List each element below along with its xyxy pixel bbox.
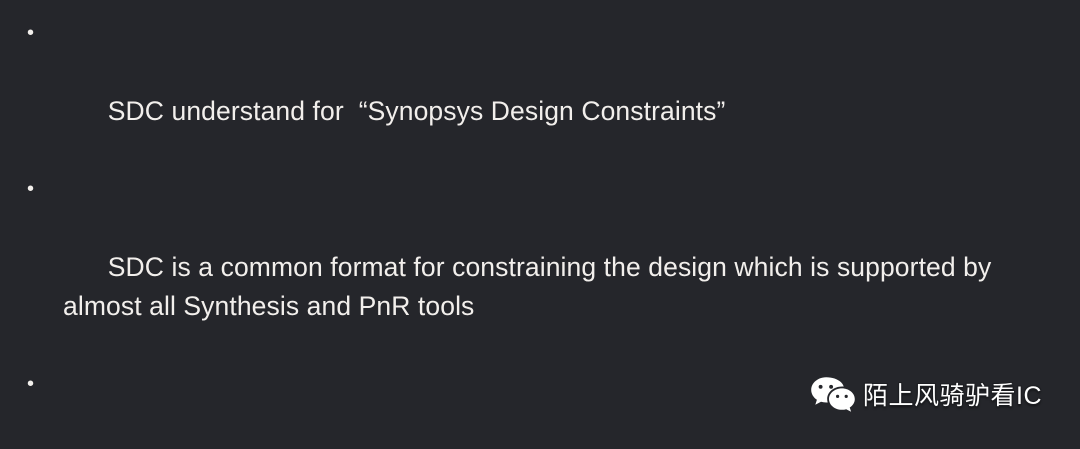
bullet-text: SDC is a common format for constraining … bbox=[63, 252, 999, 321]
bullet-marker-icon: • bbox=[27, 365, 39, 404]
bullet-list: • SDC understand for “Synopsys Design Co… bbox=[0, 14, 1080, 449]
slide-canvas: • SDC understand for “Synopsys Design Co… bbox=[0, 0, 1080, 449]
bullet-marker-icon: • bbox=[27, 170, 39, 209]
list-item: • SDC is a common format for constrainin… bbox=[0, 170, 1080, 365]
bullet-text: SDC understand for “Synopsys Design Cons… bbox=[108, 96, 726, 126]
bullet-marker-icon: • bbox=[27, 14, 39, 53]
list-item: • SDC understand for “Synopsys Design Co… bbox=[0, 14, 1080, 170]
list-item: • We provide Timing , Area and Power con… bbox=[0, 365, 1080, 449]
